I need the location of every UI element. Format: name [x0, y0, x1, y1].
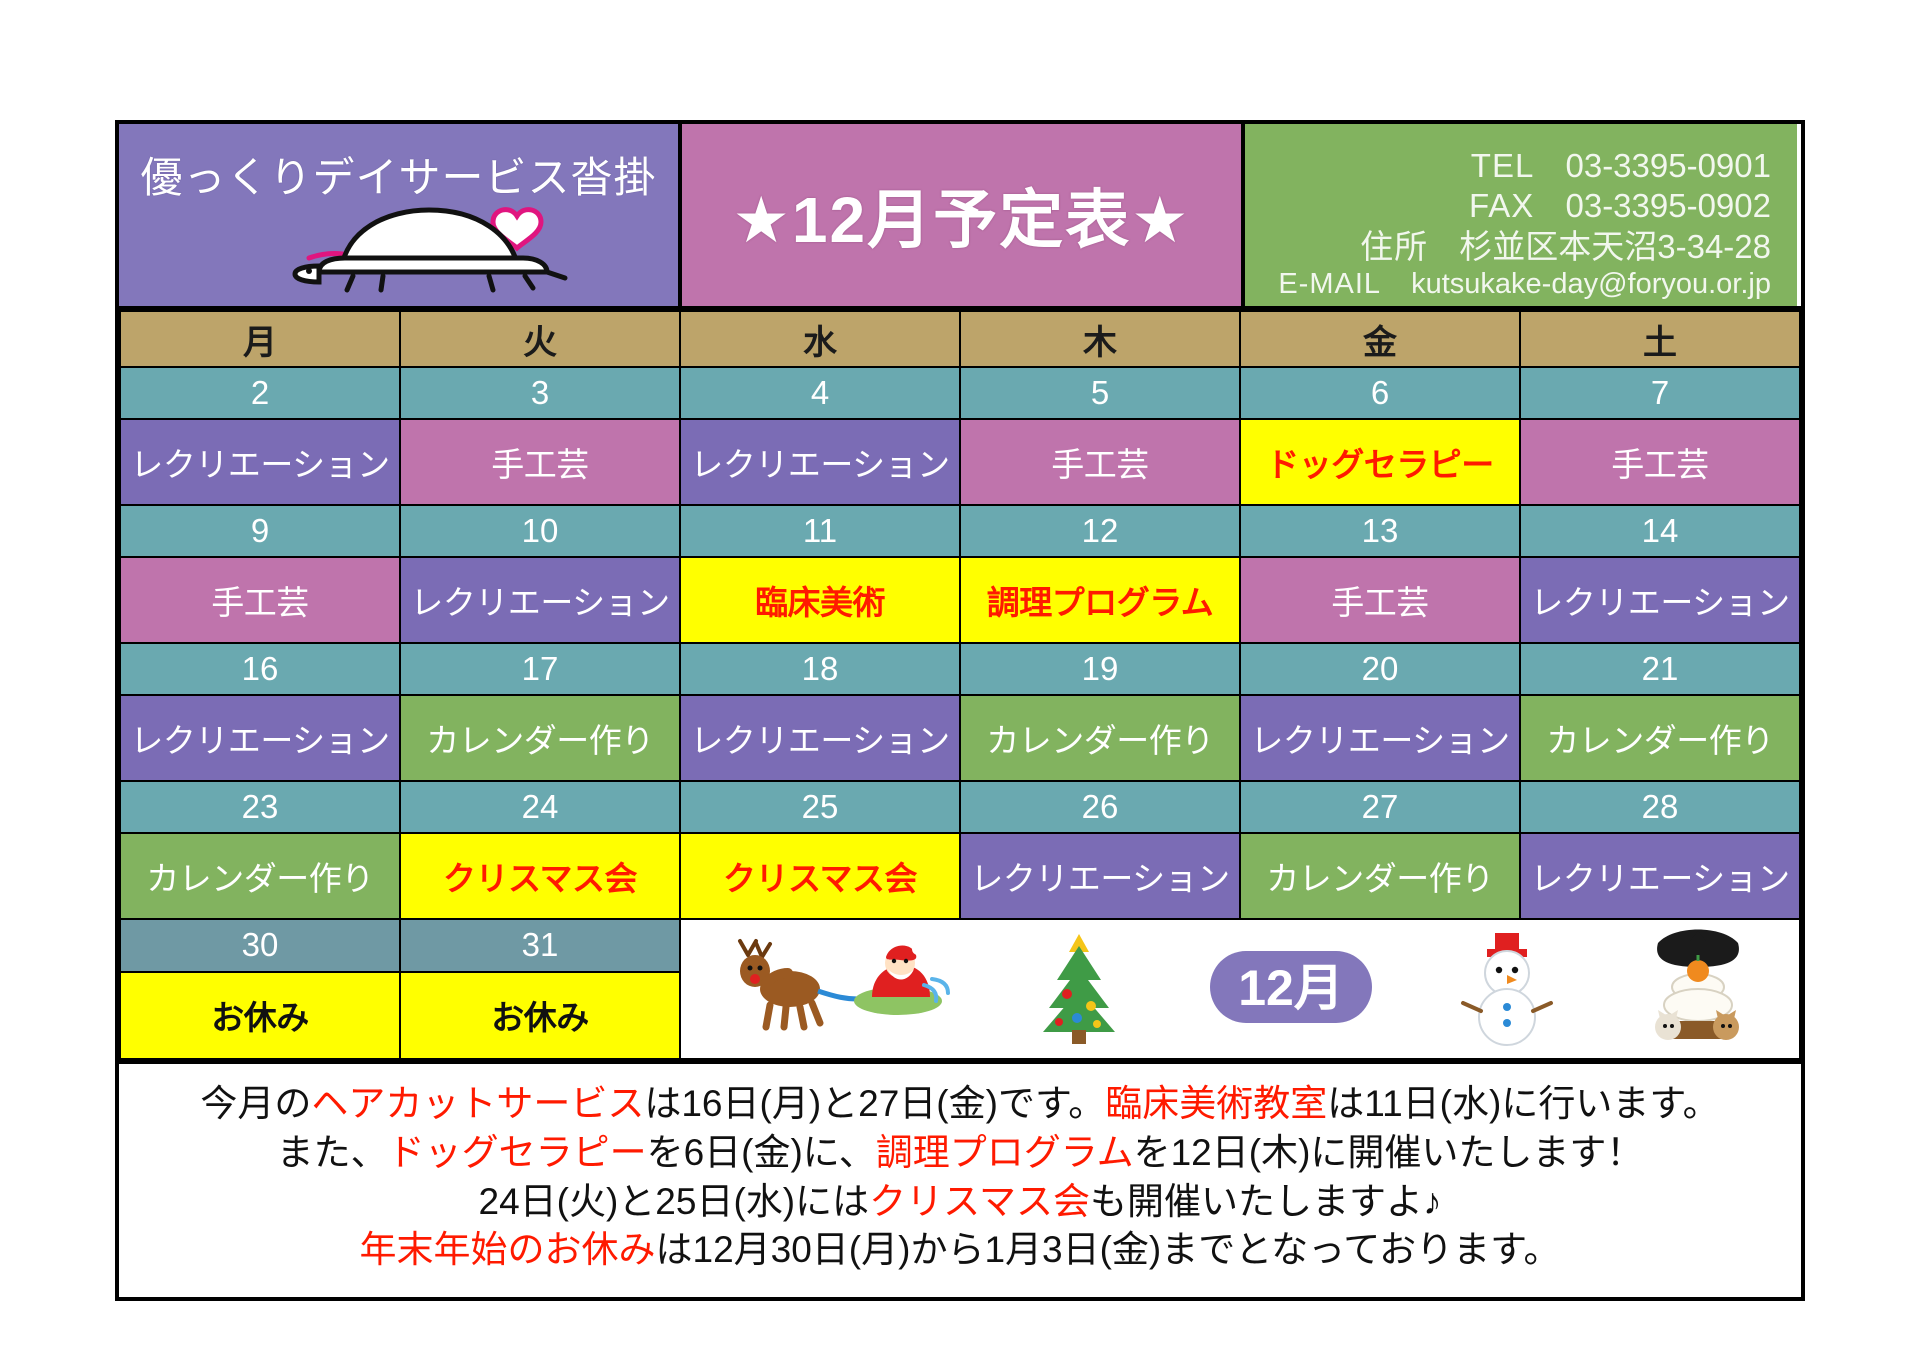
- contact-tel-value: 03-3395-0901: [1565, 147, 1771, 184]
- activity-cell-27[interactable]: カレンダー作り: [1240, 833, 1520, 919]
- note-segment: また、: [277, 1132, 388, 1173]
- note-segment: 年末年始のお休み: [360, 1229, 656, 1270]
- day-of-week-header-2: 火: [400, 311, 680, 367]
- activity-label: ドッグセラピー: [1266, 438, 1494, 486]
- activity-cell-11[interactable]: 臨床美術: [680, 557, 960, 643]
- date-cell-28: 28: [1520, 781, 1800, 833]
- activity-cell-20[interactable]: レクリエーション: [1240, 695, 1520, 781]
- contact-email: E-MAIL kutsukake-day@foryou.or.jp: [1245, 267, 1771, 302]
- activity-cell-7[interactable]: 手工芸: [1520, 419, 1800, 505]
- note-line-3: 24日(火)と25日(水)にはクリスマス会も開催いたしますよ♪: [119, 1178, 1801, 1227]
- date-cell-7: 7: [1520, 367, 1800, 419]
- note-line-1: 今月のヘアカットサービスは16日(月)と27日(金)です。臨床美術教室は11日(…: [119, 1080, 1801, 1129]
- activity-label: レクリエーション: [1530, 852, 1789, 900]
- reindeer-santa-sleigh-icon: [722, 927, 952, 1052]
- note-segment: は11日(水)に行います。: [1327, 1083, 1719, 1124]
- document-title-panel: ★12月予定表★: [682, 124, 1245, 306]
- date-cell-11: 11: [680, 505, 960, 557]
- activity-row: レクリエーションカレンダー作りレクリエーションカレンダー作りレクリエーションカレ…: [120, 695, 1800, 781]
- activity-label: お休み: [491, 991, 589, 1039]
- activity-label: 手工芸: [1331, 576, 1429, 624]
- date-cell-27: 27: [1240, 781, 1520, 833]
- christmas-tree-icon: [1033, 928, 1125, 1051]
- calendar-document-page: 優っくりデイサービス沓掛: [0, 0, 1920, 1358]
- activity-label: レクリエーション: [970, 852, 1229, 900]
- date-cell-16: 16: [120, 643, 400, 695]
- activity-cell-19[interactable]: カレンダー作り: [960, 695, 1240, 781]
- activity-row: カレンダー作りクリスマス会クリスマス会レクリエーションカレンダー作りレクリエーシ…: [120, 833, 1800, 919]
- day-of-week-header-4: 木: [960, 311, 1240, 367]
- activity-label: クリスマス会: [443, 852, 637, 900]
- activity-cell-5[interactable]: 手工芸: [960, 419, 1240, 505]
- note-segment: ヘアカットサービス: [311, 1083, 644, 1124]
- activity-label: お休み: [211, 991, 309, 1039]
- activity-label: クリスマス会: [723, 852, 917, 900]
- note-line-4: 年末年始のお休みは12月30日(月)から1月3日(金)までとなっております。: [119, 1226, 1801, 1275]
- activity-label: レクリエーション: [1530, 576, 1789, 624]
- contact-tel-label: TEL: [1471, 147, 1535, 184]
- contact-fax: FAX 03-3395-0902: [1245, 186, 1771, 226]
- turtle-mascot-icon: [279, 186, 599, 303]
- contact-fax-label: FAX: [1469, 187, 1534, 224]
- activity-cell-2[interactable]: レクリエーション: [120, 419, 400, 505]
- activity-label: レクリエーション: [690, 438, 949, 486]
- date-cell-5: 5: [960, 367, 1240, 419]
- activity-cell-17[interactable]: カレンダー作り: [400, 695, 680, 781]
- contact-address-value: 杉並区本天沼3-34-28: [1459, 228, 1771, 265]
- note-segment: 24日(火)と25日(水)には: [479, 1181, 870, 1222]
- monthly-schedule-table: 月火水木金土234567レクリエーション手工芸レクリエーション手工芸ドッグセラピ…: [119, 310, 1801, 1060]
- activity-cell-30[interactable]: お休み: [120, 972, 400, 1059]
- activity-cell-12[interactable]: 調理プログラム: [960, 557, 1240, 643]
- activity-cell-9[interactable]: 手工芸: [120, 557, 400, 643]
- activity-label: カレンダー作り: [1266, 852, 1494, 900]
- activity-row: レクリエーション手工芸レクリエーション手工芸ドッグセラピー手工芸: [120, 419, 1800, 505]
- contact-email-label: E-MAIL: [1278, 268, 1381, 300]
- activity-label: 手工芸: [1051, 438, 1149, 486]
- date-cell-21: 21: [1520, 643, 1800, 695]
- activity-cell-4[interactable]: レクリエーション: [680, 419, 960, 505]
- document-header: 優っくりデイサービス沓掛: [119, 124, 1801, 310]
- december-badge-icon: 12月: [1206, 939, 1376, 1040]
- activity-cell-24[interactable]: クリスマス会: [400, 833, 680, 919]
- day-of-week-header-1: 月: [120, 311, 400, 367]
- date-cell-10: 10: [400, 505, 680, 557]
- activity-row: 手工芸レクリエーション臨床美術調理プログラム手工芸レクリエーション: [120, 557, 1800, 643]
- date-cell-30: 30: [120, 919, 400, 972]
- date-cell-3: 3: [400, 367, 680, 419]
- activity-label: カレンダー作り: [146, 852, 374, 900]
- date-row: 3031: [120, 919, 1800, 972]
- activity-label: レクリエーション: [410, 576, 669, 624]
- seasonal-illustration-strip: 12月: [680, 919, 1800, 1059]
- activity-cell-18[interactable]: レクリエーション: [680, 695, 960, 781]
- note-segment: を12日(木)に開催いたします！: [1134, 1132, 1644, 1173]
- organization-panel: 優っくりデイサービス沓掛: [119, 124, 682, 306]
- activity-label: カレンダー作り: [1546, 714, 1774, 762]
- date-cell-18: 18: [680, 643, 960, 695]
- activity-label: 手工芸: [491, 438, 589, 486]
- activity-cell-10[interactable]: レクリエーション: [400, 557, 680, 643]
- note-segment: ドッグセラピー: [388, 1132, 647, 1173]
- contact-tel: TEL 03-3395-0901: [1245, 146, 1771, 186]
- date-cell-4: 4: [680, 367, 960, 419]
- date-cell-19: 19: [960, 643, 1240, 695]
- calendar-sheet: 優っくりデイサービス沓掛: [115, 120, 1805, 1301]
- activity-label: カレンダー作り: [986, 714, 1214, 762]
- activity-label: レクリエーション: [1250, 714, 1509, 762]
- activity-cell-3[interactable]: 手工芸: [400, 419, 680, 505]
- snowman-icon: [1457, 927, 1557, 1052]
- activity-label: レクリエーション: [130, 438, 389, 486]
- activity-cell-25[interactable]: クリスマス会: [680, 833, 960, 919]
- date-row: 161718192021: [120, 643, 1800, 695]
- activity-label: レクリエーション: [130, 714, 389, 762]
- activity-cell-14[interactable]: レクリエーション: [1520, 557, 1800, 643]
- date-cell-13: 13: [1240, 505, 1520, 557]
- activity-cell-16[interactable]: レクリエーション: [120, 695, 400, 781]
- date-cell-31: 31: [400, 919, 680, 972]
- contact-address: 住所 杉並区本天沼3-34-28: [1245, 227, 1771, 267]
- activity-cell-31[interactable]: お休み: [400, 972, 680, 1059]
- page-title: ★12月予定表★: [733, 169, 1191, 261]
- activity-cell-21[interactable]: カレンダー作り: [1520, 695, 1800, 781]
- date-cell-20: 20: [1240, 643, 1520, 695]
- day-of-week-header-6: 土: [1520, 311, 1800, 367]
- activity-cell-28[interactable]: レクリエーション: [1520, 833, 1800, 919]
- day-of-week-header-5: 金: [1240, 311, 1520, 367]
- date-cell-24: 24: [400, 781, 680, 833]
- activity-cell-13[interactable]: 手工芸: [1240, 557, 1520, 643]
- note-segment: は16日(月)と27日(金)です。: [644, 1083, 1105, 1124]
- note-segment: 調理プログラム: [876, 1132, 1134, 1173]
- contact-address-label: 住所: [1360, 228, 1428, 265]
- day-of-week-header-row: 月火水木金土: [120, 311, 1800, 367]
- contact-email-value: kutsukake-day@foryou.or.jp: [1411, 268, 1771, 300]
- date-row: 91011121314: [120, 505, 1800, 557]
- activity-cell-26[interactable]: レクリエーション: [960, 833, 1240, 919]
- activity-label: レクリエーション: [690, 714, 949, 762]
- note-segment: を6日(金)に、: [647, 1132, 876, 1173]
- svg-text:12月: 12月: [1238, 960, 1344, 1016]
- activity-label: 手工芸: [211, 576, 309, 624]
- date-cell-17: 17: [400, 643, 680, 695]
- date-row: 234567: [120, 367, 1800, 419]
- activity-label: 調理プログラム: [987, 576, 1214, 624]
- contact-panel: TEL 03-3395-0901 FAX 03-3395-0902 住所 杉並区…: [1245, 124, 1797, 306]
- day-of-week-header-3: 水: [680, 311, 960, 367]
- activity-cell-6[interactable]: ドッグセラピー: [1240, 419, 1520, 505]
- note-line-2: また、ドッグセラピーを6日(金)に、調理プログラムを12日(木)に開催いたします…: [119, 1129, 1801, 1178]
- date-cell-23: 23: [120, 781, 400, 833]
- activity-cell-23[interactable]: カレンダー作り: [120, 833, 400, 919]
- date-cell-6: 6: [1240, 367, 1520, 419]
- note-segment: 今月の: [200, 1083, 311, 1124]
- note-segment: クリスマス会: [869, 1181, 1090, 1222]
- activity-label: カレンダー作り: [426, 714, 654, 762]
- note-segment: 臨床美術教室: [1105, 1083, 1327, 1124]
- note-segment: は12月30日(月)から1月3日(金)までとなっております。: [656, 1229, 1561, 1270]
- contact-fax-value: 03-3395-0902: [1565, 187, 1771, 224]
- date-row: 232425262728: [120, 781, 1800, 833]
- footer-notes: 今月のヘアカットサービスは16日(月)と27日(金)です。臨床美術教室は11日(…: [119, 1060, 1801, 1297]
- new-year-kagami-mochi-icon: [1638, 927, 1758, 1052]
- date-cell-25: 25: [680, 781, 960, 833]
- date-cell-14: 14: [1520, 505, 1800, 557]
- date-cell-2: 2: [120, 367, 400, 419]
- activity-label: 手工芸: [1611, 438, 1709, 486]
- date-cell-12: 12: [960, 505, 1240, 557]
- note-segment: も開催いたしますよ♪: [1090, 1181, 1442, 1222]
- date-cell-26: 26: [960, 781, 1240, 833]
- date-cell-9: 9: [120, 505, 400, 557]
- activity-label: 臨床美術: [755, 576, 885, 624]
